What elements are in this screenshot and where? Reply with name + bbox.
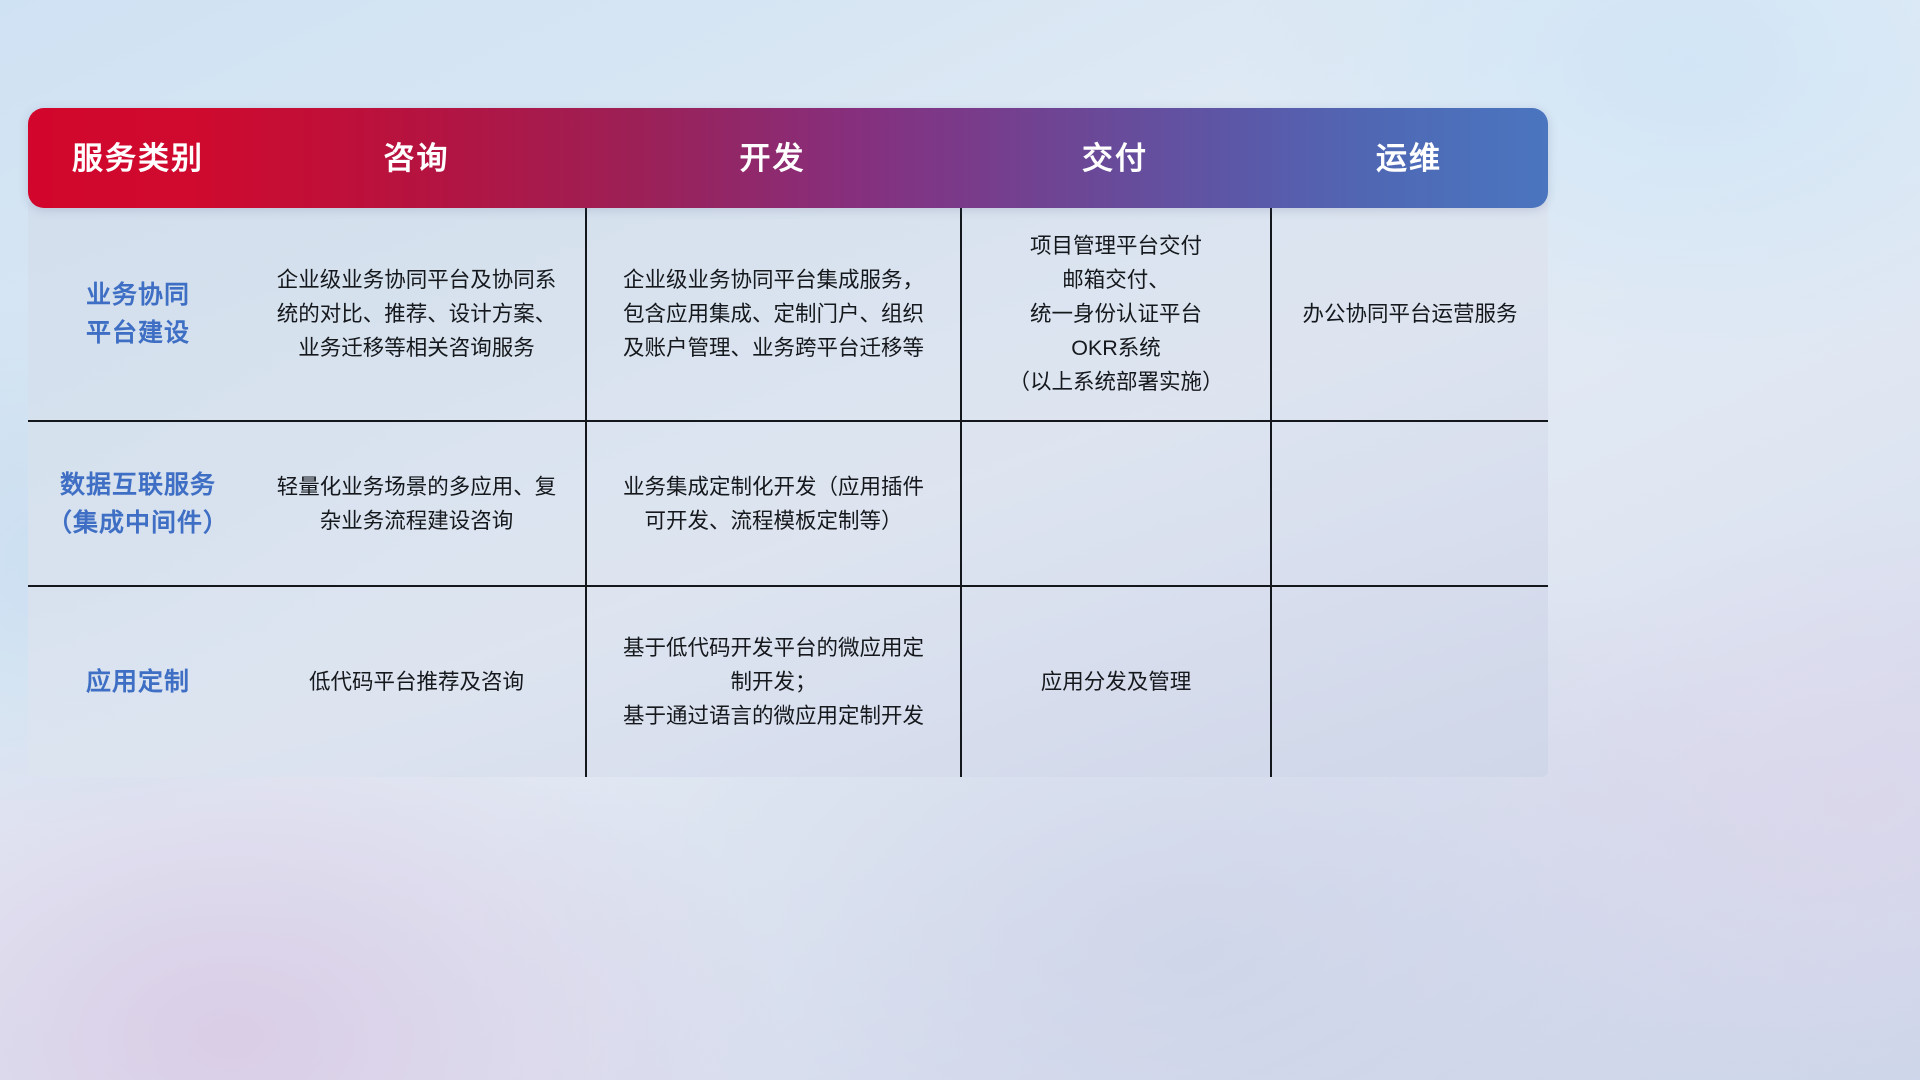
row-category-label: 业务协同 平台建设 <box>28 208 248 420</box>
table-header-row: 服务类别 咨询 开发 交付 运维 <box>28 108 1548 208</box>
column-header-category: 服务类别 <box>28 143 248 174</box>
service-category-table: 服务类别 咨询 开发 交付 运维 业务协同 平台建设 企业级业务协同平台及协同系… <box>28 108 1548 777</box>
table-body: 业务协同 平台建设 企业级业务协同平台及协同系 统的对比、推荐、设计方案、 业务… <box>28 202 1548 777</box>
column-header-delivery: 交付 <box>960 143 1270 174</box>
column-header-consulting: 咨询 <box>248 143 585 174</box>
row-category-label: 数据互联服务 （集成中间件） <box>28 422 248 585</box>
cell-development: 基于低代码开发平台的微应用定 制开发； 基于通过语言的微应用定制开发 <box>585 587 960 777</box>
column-header-development: 开发 <box>585 143 960 174</box>
cell-development: 业务集成定制化开发（应用插件 可开发、流程模板定制等） <box>585 422 960 585</box>
table-row: 数据互联服务 （集成中间件） 轻量化业务场景的多应用、复 杂业务流程建设咨询 业… <box>28 420 1548 585</box>
table-row: 应用定制 低代码平台推荐及咨询 基于低代码开发平台的微应用定 制开发； 基于通过… <box>28 585 1548 777</box>
cell-consulting: 低代码平台推荐及咨询 <box>248 587 585 777</box>
cell-delivery: 项目管理平台交付 邮箱交付、 统一身份认证平台 OKR系统 （以上系统部署实施） <box>960 208 1270 420</box>
cell-delivery: 应用分发及管理 <box>960 587 1270 777</box>
cell-development: 企业级业务协同平台集成服务， 包含应用集成、定制门户、组织 及账户管理、业务跨平… <box>585 208 960 420</box>
cell-operations: 办公协同平台运营服务 <box>1270 208 1548 420</box>
cell-operations <box>1270 422 1548 585</box>
cell-consulting: 轻量化业务场景的多应用、复 杂业务流程建设咨询 <box>248 422 585 585</box>
row-category-label: 应用定制 <box>28 587 248 777</box>
table-row: 业务协同 平台建设 企业级业务协同平台及协同系 统的对比、推荐、设计方案、 业务… <box>28 208 1548 420</box>
cell-consulting: 企业级业务协同平台及协同系 统的对比、推荐、设计方案、 业务迁移等相关咨询服务 <box>248 208 585 420</box>
cell-delivery <box>960 422 1270 585</box>
cell-operations <box>1270 587 1548 777</box>
column-header-operations: 运维 <box>1270 143 1548 174</box>
